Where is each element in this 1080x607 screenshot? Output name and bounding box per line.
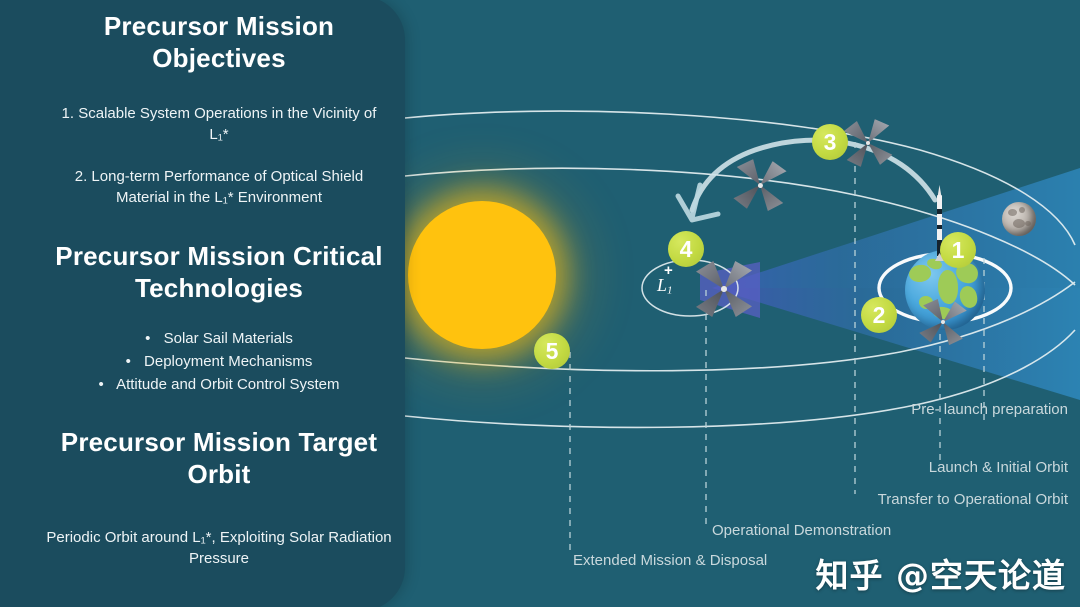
lagrange-cross-icon: + <box>664 263 673 278</box>
solar-sail-transfer-mid <box>733 158 788 213</box>
stage-badge-1-number: 1 <box>952 239 965 262</box>
sun <box>408 201 556 349</box>
technologies-list: Solar Sail Materials Deployment Mechanis… <box>44 327 394 397</box>
stage-label-operational: Operational Demonstration <box>712 522 891 539</box>
stage-label-transfer-text: Transfer to Operational Orbit <box>878 491 1068 508</box>
stage-badge-3-number: 3 <box>824 131 837 154</box>
stage-label-pre-launch-text: Pre- launch preparation <box>911 401 1068 418</box>
technology-item-2: Deployment Mechanisms <box>44 350 394 373</box>
stage-label-launch: Launch & Initial Orbit <box>929 459 1068 476</box>
stage-label-extended: Extended Mission & Disposal <box>573 552 767 569</box>
stage-label-launch-text: Launch & Initial Orbit <box>929 459 1068 476</box>
technology-item-1-text: Solar Sail Materials <box>164 330 293 347</box>
lagrange-subscript: 1 <box>667 284 673 296</box>
objective-item-1: 1. Scalable System Operations in the Vic… <box>58 104 380 145</box>
stage-badge-4-number: 4 <box>680 238 693 261</box>
lagrange-point-label: + L1 <box>657 276 673 296</box>
solar-sail-transfer-upper <box>843 118 894 169</box>
target-orbit-text: Periodic Orbit around L₁*, Exploiting So… <box>44 527 394 569</box>
stage-badge-4[interactable]: 4 <box>668 231 704 267</box>
solar-sail-l1-operational <box>696 261 752 317</box>
info-panel-content: Precursor Mission Objectives 1. Scalable… <box>30 4 408 607</box>
objective-item-2: 2. Long-term Performance of Optical Shie… <box>52 167 386 208</box>
objective-item-2-text: 2. Long-term Performance of Optical Shie… <box>75 168 363 205</box>
stage-badge-1[interactable]: 1 <box>940 232 976 268</box>
objective-item-1-text: 1. Scalable System Operations in the Vic… <box>62 105 377 142</box>
target-orbit-heading: Precursor Mission Target Orbit <box>44 426 394 490</box>
moon <box>1002 202 1036 236</box>
infographic-canvas: + L1 1 2 3 4 5 Pre- launch preparation L… <box>0 0 1080 607</box>
technologies-heading: Precursor Mission Critical Technologies <box>44 240 394 304</box>
objectives-list: 1. Scalable System Operations in the Vic… <box>44 104 394 208</box>
technology-item-3-text: Attitude and Orbit Control System <box>116 376 339 393</box>
stage-badge-2[interactable]: 2 <box>861 297 897 333</box>
stage-badge-2-number: 2 <box>873 304 886 327</box>
transfer-arrow <box>678 185 718 220</box>
technology-item-3: Attitude and Orbit Control System <box>44 373 394 396</box>
watermark: 知乎 @空天论道 <box>816 549 1067 597</box>
stage-badge-5-number: 5 <box>546 340 559 363</box>
stage-label-extended-text: Extended Mission & Disposal <box>573 552 767 569</box>
solar-sail-earth-orbit <box>918 297 968 347</box>
stage-badge-5[interactable]: 5 <box>534 333 570 369</box>
objectives-heading: Precursor Mission Objectives <box>44 10 394 74</box>
stage-badge-3[interactable]: 3 <box>812 124 848 160</box>
technology-item-1: Solar Sail Materials <box>44 327 394 350</box>
technology-item-2-text: Deployment Mechanisms <box>144 353 312 370</box>
stage-label-pre-launch: Pre- launch preparation <box>868 400 1068 419</box>
stage-label-transfer: Transfer to Operational Orbit <box>878 491 1068 508</box>
stage-label-operational-text: Operational Demonstration <box>712 522 891 539</box>
shadow-cone-lower <box>712 288 1080 400</box>
